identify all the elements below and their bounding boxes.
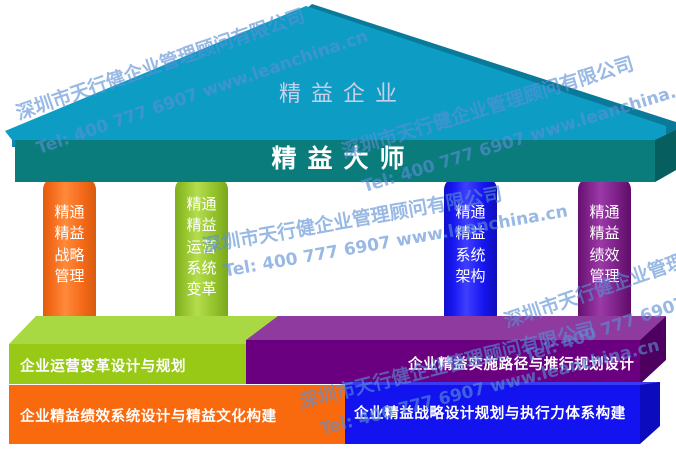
platform-orange-label-wrap: 企业精益绩效系统设计与精益文化构建 [20, 402, 340, 428]
column-operations-label: 精通 精益 运营 系统 变革 [186, 194, 216, 300]
column-performance-label: 精通 精益 绩效 管理 [589, 202, 619, 287]
platform-green-label: 企业运营变革设计与规划 [20, 355, 186, 376]
platform-blue: 企业精益战略设计规划与执行力体系构建 [340, 376, 676, 454]
column-system: 精通 精益 系统 架构 [444, 180, 497, 325]
roof-face [5, 6, 666, 140]
platform-green-label-wrap: 企业运营变革设计与规划 [20, 352, 250, 378]
platform-blue-label-wrap: 企业精益战略设计规划与执行力体系构建 [354, 399, 644, 425]
watermark-contact-2: Tel: 400 777 6907 www.leanchina.cn [222, 201, 569, 281]
platform-orange: 企业精益绩效系统设计与精益文化构建 [0, 378, 360, 454]
platform-blue-top [345, 382, 660, 385]
band-front-face [15, 130, 676, 182]
lean-enterprise-temple-diagram: 精益企业 精益大师 精通 精益 战略 管理 精通 精益 运营 系统 变革 精通 … [0, 0, 676, 454]
column-operations: 精通 精益 运营 系统 变革 [175, 180, 228, 325]
column-strategy: 精通 精益 战略 管理 [43, 180, 96, 325]
column-system-label: 精通 精益 系统 架构 [455, 202, 485, 287]
platform-purple-top [246, 316, 666, 340]
platform-orange-label: 企业精益绩效系统设计与精益文化构建 [20, 405, 277, 426]
platform-purple-label: 企业精益实施路径与推行规划设计 [408, 353, 635, 374]
band-svg [0, 130, 676, 190]
column-performance: 精通 精益 绩效 管理 [578, 180, 631, 325]
column-strategy-label: 精通 精益 战略 管理 [54, 202, 84, 287]
platform-purple-label-wrap: 企业精益实施路径与推行规划设计 [408, 350, 658, 376]
platform-blue-label: 企业精益战略设计规划与执行力体系构建 [354, 402, 626, 423]
architrave-band [0, 130, 676, 186]
band-side-face [655, 130, 676, 182]
